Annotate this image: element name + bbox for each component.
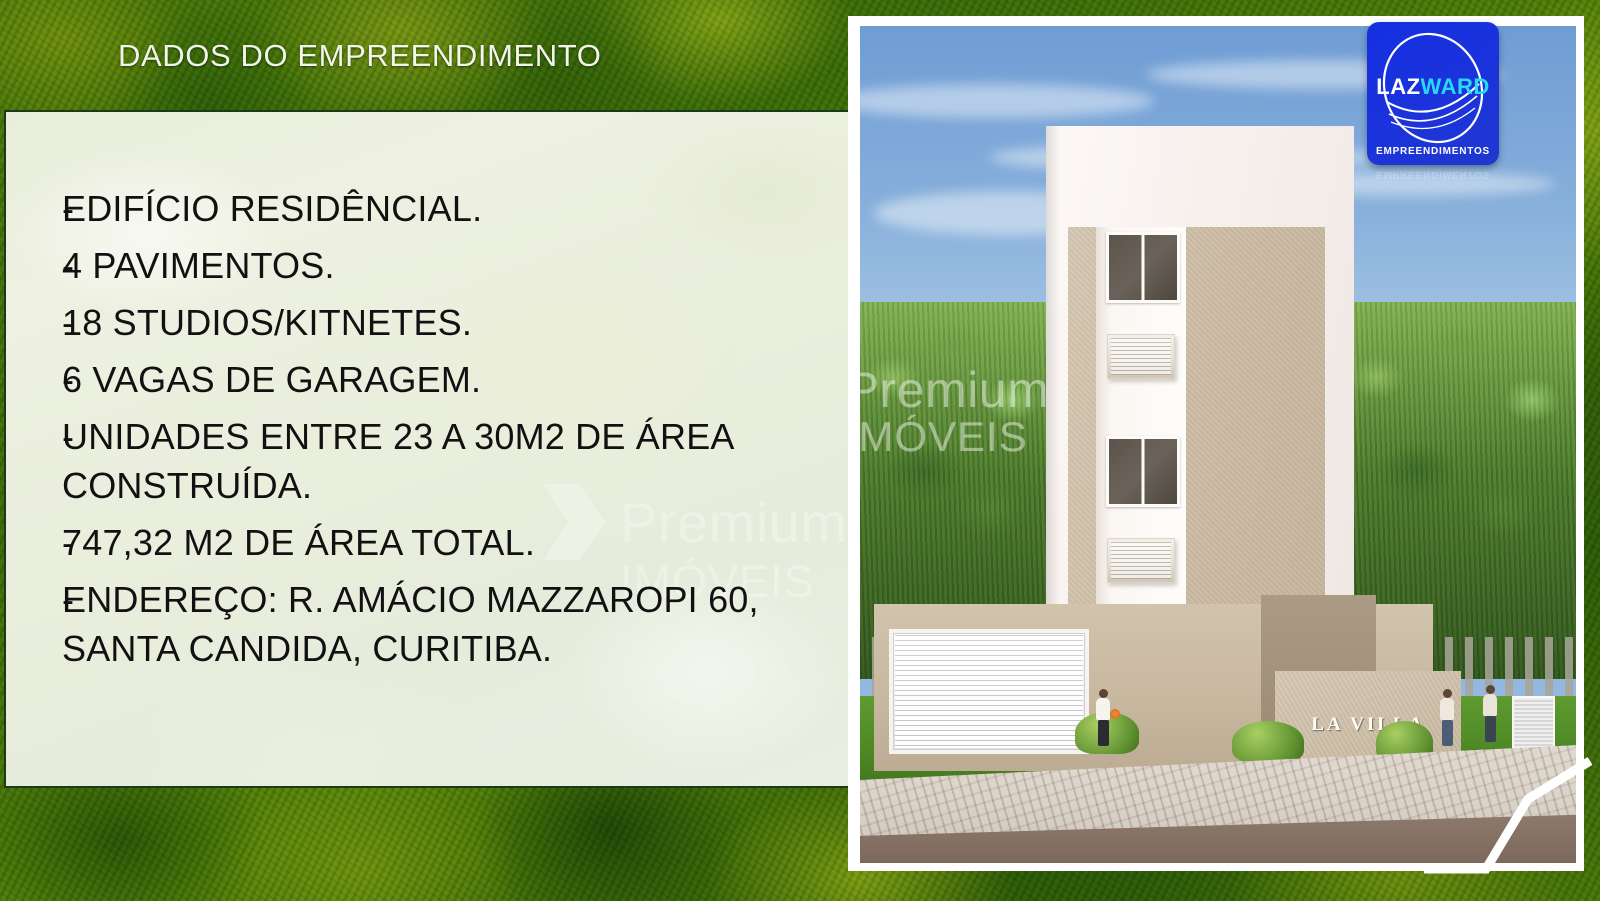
list-item: - 747,32 M2 DE ÁREA TOTAL. [6,518,832,567]
list-item-label: UNIDADES ENTRE 23 A 30M2 DE ÁREA CONSTRU… [62,412,762,510]
list-item: - 6 VAGAS DE GARAGEM. [6,355,832,404]
list-item-label: 6 VAGAS DE GARAGEM. [62,355,832,404]
person-body [1096,698,1110,720]
info-panel: Premium IMÓVEIS - EDIFÍCIO RESIDÊNCIAL. … [4,110,858,788]
person-legs [1485,716,1496,742]
list-item-label: 18 STUDIOS/KITNETES. [62,298,832,347]
bullet-marker: - [6,412,62,461]
list-item-label: 4 PAVIMENTOS. [62,241,832,290]
bullet-marker: - [6,518,62,567]
page-title: DADOS DO EMPREENDIMENTO [118,38,601,74]
person-figure [1440,689,1454,746]
logo-word-laz: LAZ [1376,74,1420,99]
list-item: - EDIFÍCIO RESIDÊNCIAL. [6,184,832,233]
bullet-marker: - [6,184,62,233]
person-head [1486,685,1495,694]
garage-door [889,629,1089,755]
logo-reflection: EMPREENDIMENTOS [1367,167,1499,197]
lazward-logo: LAZWARD EMPREENDIMENTOS [1367,22,1499,165]
logo-tagline: EMPREENDIMENTOS [1367,146,1499,157]
list-item: - 4 PAVIMENTOS. [6,241,832,290]
logo-word-ward: WARD [1421,74,1490,99]
logo-reflection-text: EMPREENDIMENTOS [1367,169,1499,180]
cloud [860,84,1154,118]
person-figure [1483,685,1497,742]
list-item-label: 747,32 M2 DE ÁREA TOTAL. [62,518,832,567]
person-head [1443,689,1452,698]
development-details-list: - EDIFÍCIO RESIDÊNCIAL. - 4 PAVIMENTOS. … [6,184,858,681]
person-body [1440,698,1454,720]
person-figure [1096,689,1110,746]
ac-unit [1107,538,1175,583]
list-item-label: ENDEREÇO: R. AMÁCIO MAZZAROPI 60, SANTA … [62,575,762,673]
person-body [1483,694,1497,716]
window [1106,436,1180,507]
window [1106,232,1180,303]
list-item: - 18 STUDIOS/KITNETES. [6,298,832,347]
ac-unit [1107,334,1175,379]
person-legs [1442,720,1453,746]
list-item: - ENDEREÇO: R. AMÁCIO MAZZAROPI 60, SANT… [6,575,832,673]
person-legs [1098,720,1109,746]
bullet-marker: - [6,575,62,624]
list-item: - UNIDADES ENTRE 23 A 30M2 DE ÁREA CONST… [6,412,832,510]
shrub [1232,721,1304,763]
person-head [1099,689,1108,698]
list-item-label: EDIFÍCIO RESIDÊNCIAL. [62,184,832,233]
bullet-marker: - [6,241,62,290]
bullet-marker: - [6,298,62,347]
bullet-marker: - [6,355,62,404]
logo-wordmark: LAZWARD [1367,74,1499,100]
